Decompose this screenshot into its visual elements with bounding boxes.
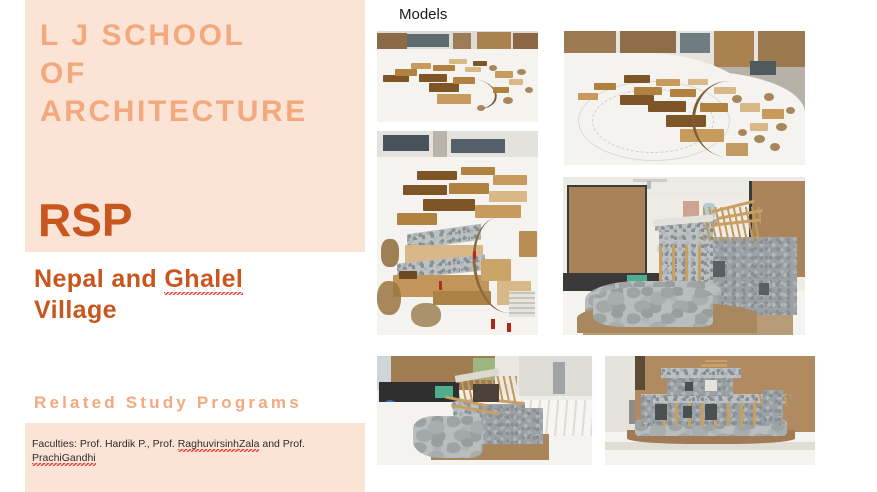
photo-village-closeup[interactable] <box>377 131 538 335</box>
faculty-name-3: PrachiGandhi <box>32 452 96 466</box>
faculties-prefix: Faculties: Prof. Hardik P., Prof. <box>32 438 178 450</box>
project-title-part-1: Nepal and <box>34 265 164 293</box>
models-section-heading: Models <box>399 6 447 23</box>
photo-site-model-wide-1[interactable] <box>377 31 538 122</box>
photo-site-model-wide-2[interactable] <box>564 31 805 165</box>
faculty-name-2: Zala <box>239 438 259 452</box>
faculty-name-1: Raghuvirsinh <box>178 438 239 452</box>
faculties-text: Faculties: Prof. Hardik P., Prof. Raghuv… <box>32 437 332 465</box>
left-info-panel: L J SCHOOL OF ARCHITECTURE RSP Nepal and… <box>0 0 368 492</box>
project-title-part-3: Village <box>34 296 117 324</box>
faculties-mid: and Prof. <box>259 438 305 450</box>
program-code-title: RSP <box>38 194 133 246</box>
project-title-part-2: Ghalel <box>164 265 243 295</box>
school-name: L J SCHOOL OF ARCHITECTURE <box>40 17 340 131</box>
photo-stone-house-front[interactable] <box>605 356 815 465</box>
photo-stone-house-angled[interactable] <box>563 177 805 335</box>
related-study-programs-heading: Related Study Programs <box>34 393 302 413</box>
photo-stone-house-roof-detail[interactable] <box>377 356 592 465</box>
project-title: Nepal and Ghalel Village <box>34 264 354 326</box>
